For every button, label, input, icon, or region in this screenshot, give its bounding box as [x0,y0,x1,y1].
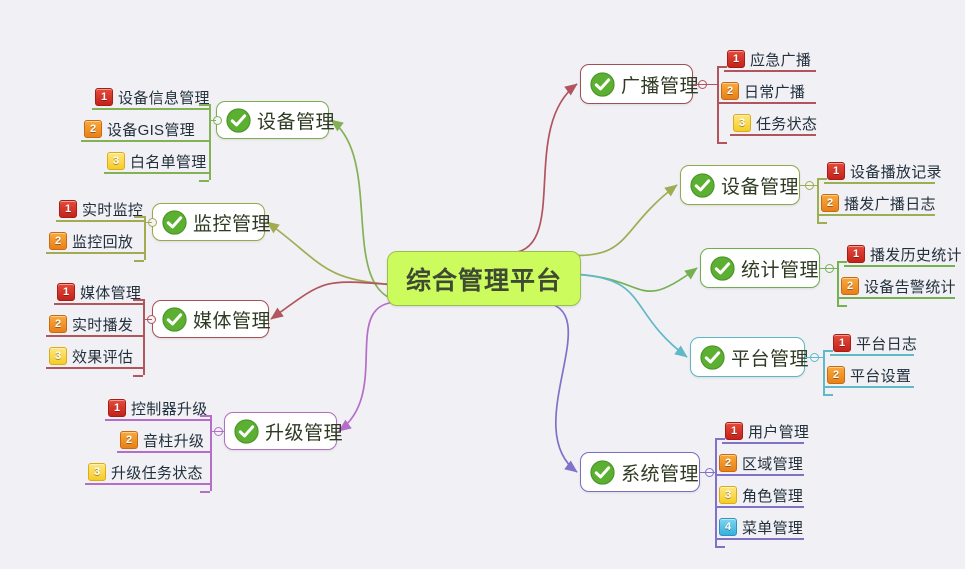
subitem[interactable]: 3升级任务状态 [85,459,210,485]
item-underline [722,442,804,444]
branch-node-system-mgmt[interactable]: 系统管理 [580,452,700,492]
item-number-badge: 2 [719,454,737,472]
subitem[interactable]: 2音柱升级 [117,427,210,453]
item-number-badge: 2 [827,366,845,384]
bracket-cap [817,222,827,224]
item-label: 设备告警统计 [864,276,956,297]
item-underline [117,451,210,453]
item-number-badge: 2 [120,431,138,449]
subitem[interactable]: 1设备播放记录 [824,158,935,184]
item-underline [92,108,209,110]
item-label: 角色管理 [742,485,803,506]
subitem[interactable]: 1播发历史统计 [844,241,955,267]
item-number-badge: 3 [88,463,106,481]
subitem[interactable]: 3白名单管理 [104,148,209,174]
item-number-badge: 1 [827,162,845,180]
bracket-cap [823,350,833,352]
subitem[interactable]: 1设备信息管理 [92,84,209,110]
item-underline [838,297,955,299]
branch-node-label: 监控管理 [193,209,271,236]
bracket-cap [717,66,727,68]
connector-stub [144,222,152,224]
link-media-mgmt [271,282,391,319]
connector-stub [210,431,224,433]
item-label: 播发广播日志 [844,193,936,214]
bracket-cap [134,216,144,218]
subitem[interactable]: 3任务状态 [730,110,816,136]
item-underline [56,220,144,222]
subitem[interactable]: 4菜单管理 [716,514,804,540]
item-underline [46,252,144,254]
subitem[interactable]: 1媒体管理 [54,279,143,305]
item-number-badge: 1 [727,50,745,68]
bracket-cap [823,394,833,396]
item-underline [844,265,955,267]
item-number-badge: 2 [49,315,67,333]
bracket-cap [837,305,847,307]
branch-node-label: 媒体管理 [193,306,271,333]
check-circle-icon [590,72,615,97]
item-label: 升级任务状态 [111,462,203,483]
item-number-badge: 1 [108,399,126,417]
branch-node-stats-mgmt[interactable]: 统计管理 [700,248,820,288]
subitem[interactable]: 2播发广播日志 [818,190,935,216]
item-underline [716,506,804,508]
item-label: 应急广播 [750,49,811,70]
item-underline [730,134,816,136]
link-platform-mgmt [579,275,687,358]
branch-node-label: 统计管理 [741,255,819,282]
item-underline [824,182,935,184]
item-label: 播发历史统计 [870,244,962,265]
center-node-label: 综合管理平台 [406,261,562,297]
branch-node-broadcast-mgmt[interactable]: 广播管理 [580,64,693,104]
connector-stub [693,84,718,86]
item-underline [105,419,210,421]
item-number-badge: 4 [719,518,737,536]
subitem[interactable]: 2设备告警统计 [838,273,955,299]
subitem[interactable]: 1应急广播 [724,46,816,72]
item-underline [724,70,816,72]
branch-node-label: 平台管理 [731,344,809,371]
item-number-badge: 1 [95,88,113,106]
item-label: 白名单管理 [130,151,207,172]
item-underline [824,386,914,388]
link-device-mgmt-right [563,185,677,256]
item-number-badge: 1 [833,334,851,352]
branch-node-label: 设备管理 [257,107,335,134]
item-number-badge: 1 [57,283,75,301]
subitem[interactable]: 2日常广播 [718,78,816,104]
item-number-badge: 1 [847,245,865,263]
item-label: 设备信息管理 [118,87,210,108]
subitem[interactable]: 1实时监控 [56,196,144,222]
item-label: 控制器升级 [131,398,208,419]
bracket-cap [133,299,143,301]
bracket-cap [715,546,725,548]
item-label: 任务状态 [756,113,817,134]
item-number-badge: 2 [841,277,859,295]
subitem[interactable]: 3角色管理 [716,482,804,508]
branch-node-device-mgmt-left[interactable]: 设备管理 [216,101,329,139]
connector-stub [209,120,216,122]
check-circle-icon [226,108,251,133]
item-underline [46,335,143,337]
branch-node-label: 升级管理 [265,418,343,445]
subitem-bracket [209,104,211,180]
item-underline [81,140,209,142]
item-underline [104,172,209,174]
link-broadcast-mgmt [504,84,577,253]
item-number-badge: 2 [721,82,739,100]
item-underline [718,102,816,104]
item-label: 日常广播 [744,81,805,102]
subitem-bracket [210,415,212,491]
check-circle-icon [162,210,187,235]
item-number-badge: 3 [107,152,125,170]
item-underline [716,538,804,540]
branch-node-label: 设备管理 [721,172,799,199]
item-underline [54,303,143,305]
link-monitor-mgmt [267,222,391,285]
subitem[interactable]: 3效果评估 [46,343,143,369]
item-label: 音柱升级 [143,430,204,451]
check-circle-icon [162,307,187,332]
bracket-cap [715,438,725,440]
item-label: 用户管理 [748,421,809,442]
check-circle-icon [590,460,615,485]
subitem[interactable]: 2监控回放 [46,228,144,254]
check-circle-icon [234,419,259,444]
subitem[interactable]: 2实时播发 [46,311,143,337]
center-node[interactable]: 综合管理平台 [387,251,581,306]
mindmap-canvas: 综合管理平台 设备管理1设备信息管理2设备GIS管理3白名单管理监控管理1实时监… [0,0,965,569]
item-label: 设备GIS管理 [107,119,195,140]
item-number-badge: 3 [733,114,751,132]
bracket-cap [837,261,847,263]
branch-node-monitor-mgmt[interactable]: 监控管理 [152,203,265,241]
subitem[interactable]: 2设备GIS管理 [81,116,209,142]
item-label: 平台日志 [856,333,917,354]
item-number-badge: 1 [59,200,77,218]
item-label: 设备播放记录 [850,161,942,182]
item-number-badge: 3 [719,486,737,504]
subitem-bracket [143,299,145,375]
subitem-bracket [717,66,719,142]
subitem[interactable]: 2区域管理 [716,450,804,476]
bracket-cap [200,491,210,493]
link-stats-mgmt [579,268,697,291]
link-system-mgmt [541,302,577,472]
branch-node-device-mgmt-right[interactable]: 设备管理 [680,165,800,205]
item-number-badge: 2 [84,120,102,138]
connector-stub [143,319,152,321]
item-label: 监控回放 [72,231,133,252]
item-label: 平台设置 [850,365,911,386]
item-underline [46,367,143,369]
connector-stub [800,185,818,187]
bracket-cap [717,142,727,144]
link-upgrade-mgmt [339,302,405,431]
item-label: 菜单管理 [742,517,803,538]
branch-node-label: 系统管理 [621,459,699,486]
item-underline [716,474,804,476]
item-label: 区域管理 [742,453,803,474]
bracket-cap [817,178,827,180]
bracket-cap [199,104,209,106]
item-label: 实时播发 [72,314,133,335]
branch-node-media-mgmt[interactable]: 媒体管理 [152,300,269,338]
check-circle-icon [690,173,715,198]
item-underline [818,214,935,216]
subitem[interactable]: 1用户管理 [722,418,804,444]
check-circle-icon [710,256,735,281]
branch-node-label: 广播管理 [621,71,699,98]
item-underline [85,483,210,485]
check-circle-icon [700,345,725,370]
bracket-cap [199,180,209,182]
subitem[interactable]: 1平台日志 [830,330,914,356]
subitem-bracket [715,438,717,546]
subitem[interactable]: 1控制器升级 [105,395,210,421]
item-number-badge: 1 [725,422,743,440]
bracket-cap [133,375,143,377]
connector-stub [820,268,838,270]
bracket-cap [134,260,144,262]
branch-node-platform-mgmt[interactable]: 平台管理 [690,337,805,377]
bracket-cap [200,415,210,417]
subitem[interactable]: 2平台设置 [824,362,914,388]
item-label: 效果评估 [72,346,133,367]
item-number-badge: 2 [821,194,839,212]
branch-node-upgrade-mgmt[interactable]: 升级管理 [224,412,337,450]
item-number-badge: 3 [49,347,67,365]
connector-stub [805,357,824,359]
item-underline [830,354,914,356]
item-number-badge: 2 [49,232,67,250]
connector-stub [700,472,716,474]
